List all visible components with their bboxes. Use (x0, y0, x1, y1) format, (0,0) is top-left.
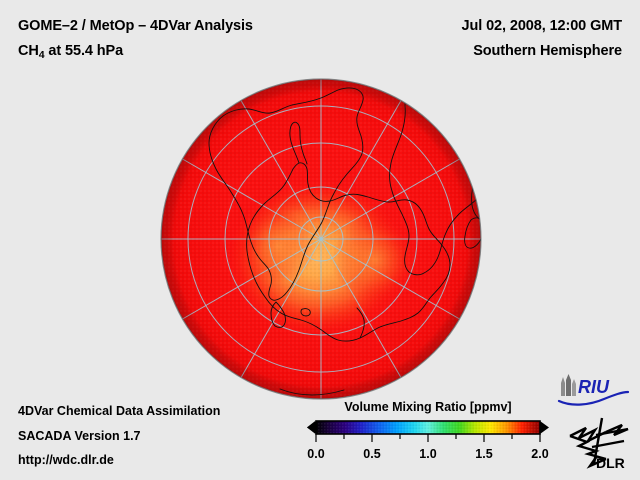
footer-line-version: SACADA Version 1.7 (18, 429, 141, 443)
instrument-title: GOME–2 / MetOp – 4DVar Analysis (18, 18, 253, 34)
species-level-label: CH4 at 55.4 hPa (18, 43, 123, 61)
visualization-page: GOME–2 / MetOp – 4DVar Analysis CH4 at 5… (0, 0, 640, 480)
colorbar-under-cap (307, 421, 316, 434)
footer-line-assimilation: 4DVar Chemical Data Assimilation (18, 404, 220, 418)
colorbar-texture (316, 421, 540, 434)
colorbar-tick-1: 0.5 (363, 447, 380, 461)
colorbar-title: Volume Mixing Ratio [ppmv] (306, 400, 550, 414)
species-prefix: CH (18, 43, 39, 59)
colorbar-scale (306, 420, 550, 446)
colorbar-tick-2: 1.0 (419, 447, 436, 461)
coastline-new-zealand (196, 363, 224, 378)
dlr-logo: DLR (566, 414, 632, 470)
colorbar-tick-labels: 0.0 0.5 1.0 1.5 2.0 (306, 447, 550, 467)
colorbar-tick-4: 2.0 (531, 447, 548, 461)
dlr-wordmark: DLR (596, 455, 625, 470)
limb-shading (161, 79, 481, 399)
colorbar-legend: Volume Mixing Ratio [ppmv] (306, 400, 550, 472)
coastline-new-zealand-south (217, 371, 233, 377)
colorbar-ticks (316, 434, 540, 442)
colorbar-over-cap (540, 421, 549, 434)
data-disc (160, 78, 482, 400)
polar-globe-map (160, 78, 482, 400)
riu-wordmark: RIU (578, 377, 610, 397)
datetime-label: Jul 02, 2008, 12:00 GMT (461, 18, 622, 34)
region-label: Southern Hemisphere (473, 43, 622, 59)
footer-line-url: http://wdc.dlr.de (18, 453, 114, 467)
riu-tower-icon (561, 374, 576, 396)
colorbar-tick-0: 0.0 (307, 447, 324, 461)
species-suffix: at 55.4 hPa (45, 43, 124, 59)
riu-logo: RIU (556, 374, 630, 406)
colorbar-tick-3: 1.5 (475, 447, 492, 461)
